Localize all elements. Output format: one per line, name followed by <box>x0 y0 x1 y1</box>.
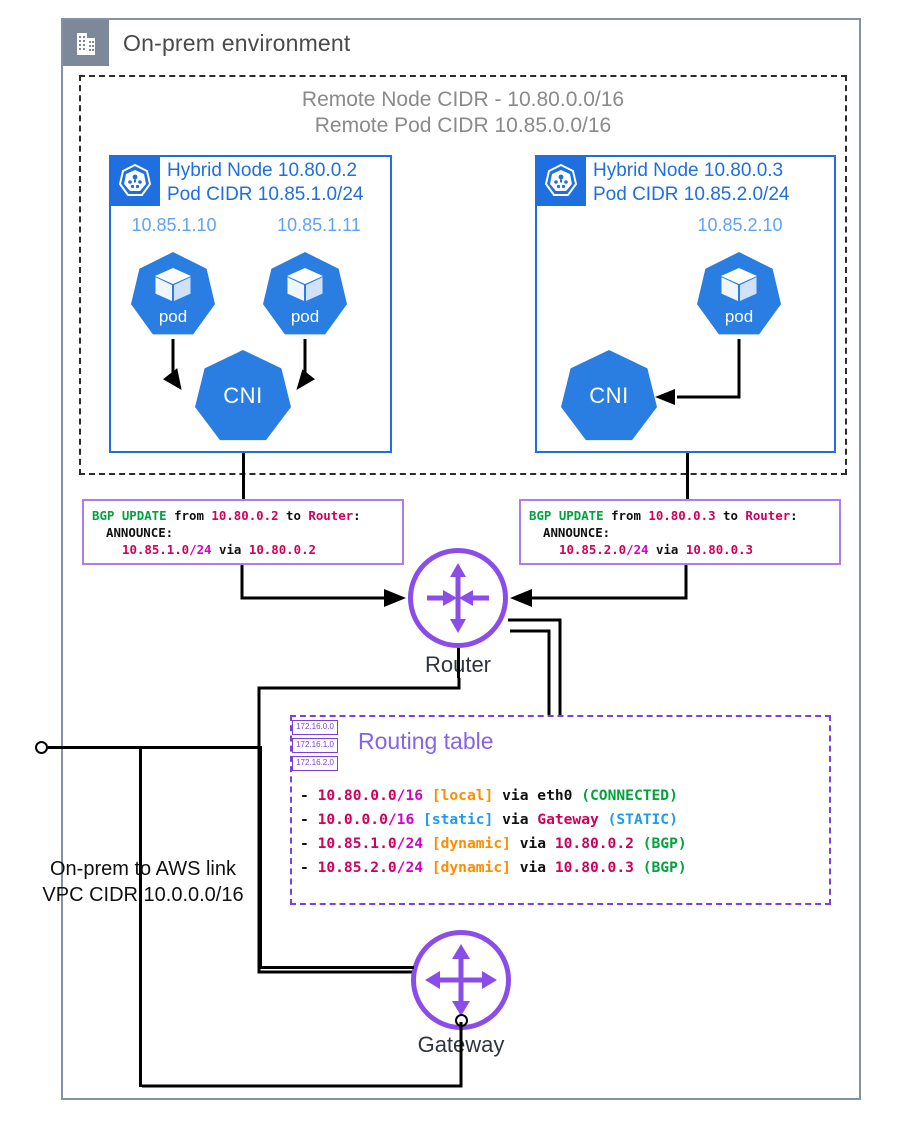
bgp-colon: : <box>790 508 797 523</box>
aws-link-label-line1: On-prem to AWS link <box>18 858 268 881</box>
aws-link-horizontal-line <box>48 746 261 749</box>
route-space <box>634 859 643 876</box>
route-proto: (STATIC) <box>608 811 678 828</box>
remote-pod-cidr-label: Remote Pod CIDR 10.85.0.0/16 <box>79 114 847 138</box>
building-icon <box>63 20 109 66</box>
bgp-line-2: ANNOUNCE: <box>529 524 831 541</box>
route-proto: (BGP) <box>643 859 687 876</box>
aws-link-endpoint-dot <box>35 741 48 754</box>
route-space <box>599 811 608 828</box>
aws-link-into-gateway <box>259 966 414 969</box>
aws-link-vertical-line <box>139 747 142 1087</box>
aws-link-label-line2: VPC CIDR 10.0.0.0/16 <box>18 884 268 907</box>
router-to-gateway-path <box>250 676 570 986</box>
route-space <box>634 835 643 852</box>
bgp-peer: Router <box>745 508 790 523</box>
bgp-to-word: to <box>286 508 301 523</box>
bgp-line-1: BGP UPDATE from 10.80.0.2 to Router: <box>92 507 394 524</box>
route-space <box>572 787 581 804</box>
pod-to-cni-arrows-left <box>111 157 394 455</box>
line-node-left-to-bgp <box>242 453 245 499</box>
route-proto: (BGP) <box>643 835 687 852</box>
bgp-announce-label: ANNOUNCE: <box>543 525 610 540</box>
bgp-keyword: BGP UPDATE <box>92 508 167 523</box>
gateway-to-aws-link-path <box>140 1018 480 1098</box>
bgp-line-1: BGP UPDATE from 10.80.0.3 to Router: <box>529 507 831 524</box>
bgp-colon: : <box>353 508 360 523</box>
route-proto: (CONNECTED) <box>581 787 678 804</box>
aws-link-down-to-gateway <box>259 746 262 968</box>
line-node-right-to-bgp <box>686 453 689 499</box>
bgp-source-ip: 10.80.0.2 <box>211 508 278 523</box>
bgp-from-word: from <box>174 508 204 523</box>
bgp-from-word: from <box>611 508 641 523</box>
bgp-peer: Router <box>308 508 353 523</box>
hybrid-node-right[interactable]: Hybrid Node 10.80.0.3 Pod CIDR 10.85.2.0… <box>535 155 836 453</box>
router-bottom-stub <box>457 648 460 678</box>
bgp-keyword: BGP UPDATE <box>529 508 604 523</box>
bgp-source-ip: 10.80.0.3 <box>648 508 715 523</box>
pod-to-cni-arrow-right <box>537 157 838 455</box>
remote-node-cidr-label: Remote Node CIDR - 10.80.0.0/16 <box>79 88 847 112</box>
page-title: On-prem environment <box>123 30 351 57</box>
router-icon[interactable] <box>408 548 508 648</box>
hybrid-node-left[interactable]: Hybrid Node 10.80.0.2 Pod CIDR 10.85.1.0… <box>109 155 392 453</box>
diagram-canvas: On-prem environment Remote Node CIDR - 1… <box>0 0 922 1124</box>
bgp-line-2: ANNOUNCE: <box>92 524 394 541</box>
bgp-announce-label: ANNOUNCE: <box>106 525 173 540</box>
bgp-to-word: to <box>723 508 738 523</box>
